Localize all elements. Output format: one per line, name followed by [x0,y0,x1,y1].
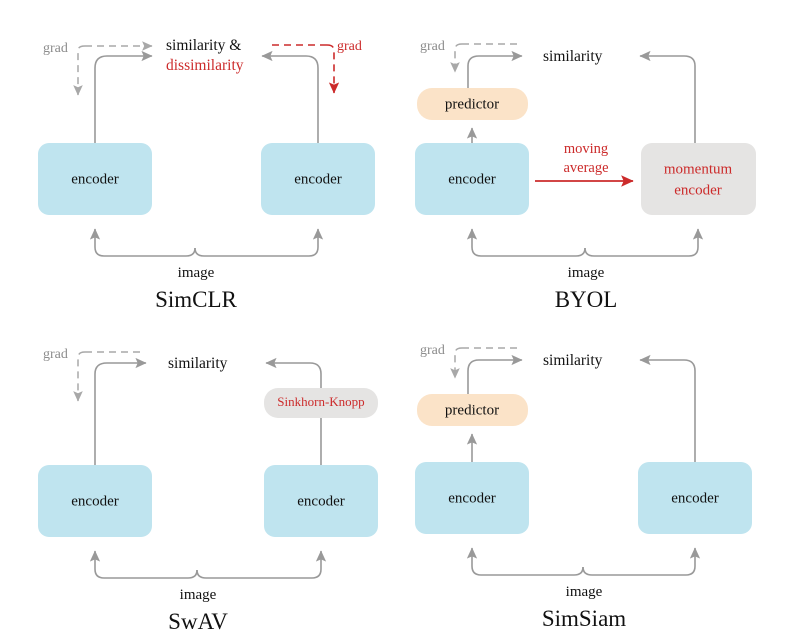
input-label: image [180,587,217,603]
objective-line2: dissimilarity [166,57,244,74]
input-arrow-right [585,229,698,256]
encoder-label-right: encoder [297,493,344,509]
grad-dashed-down-left [455,348,462,378]
forward-arrow-right [640,56,695,143]
grad-label-left: grad [43,347,68,362]
momentum-encoder-box: momentum encoder [641,143,756,215]
objective-label: similarity [543,352,603,369]
momentum-encoder-label-line2: encoder [674,182,721,198]
grad-label-right: grad [337,39,362,54]
encoder-label-left: encoder [448,171,495,187]
input-arrow-left [95,551,197,578]
momentum-encoder-label-line1: momentum [664,161,733,177]
grad-label-left: grad [43,41,68,56]
encoder-label-right: encoder [294,171,341,187]
panel-title-simclr: SimCLR [155,287,237,312]
encoder-label-left: encoder [71,171,118,187]
encoder-box-right: encoder [638,462,752,534]
input-label: image [178,265,215,281]
input-arrow-right [197,551,321,578]
grad-label-left: grad [420,343,445,358]
input-label: image [566,584,603,600]
panel-title-swav: SwAV [168,609,228,634]
encoder-box-left: encoder [38,143,152,215]
objective-line1: similarity & [166,37,241,54]
predictor-box: predictor [417,88,528,120]
sinkhorn-knopp-box: Sinkhorn-Knopp [264,388,378,418]
panel-simclr: grad similarity & dissimilarity grad enc… [0,0,395,316]
encoder-box-left: encoder [415,143,529,215]
predictor-label: predictor [445,402,499,418]
forward-arrow-right [640,360,695,462]
grad-dashed-down-right [327,45,334,93]
encoder-label-left: encoder [448,490,495,506]
forward-arrow-left [95,56,152,143]
objective-label: similarity [168,355,228,372]
panel-title-simsiam: SimSiam [542,606,626,631]
architecture-comparison-figure: grad similarity & dissimilarity grad enc… [0,0,790,636]
grad-dashed-down-left [78,352,85,401]
encoder-label-left: encoder [71,493,118,509]
panel-byol: grad similarity predictor encoder moving… [395,0,790,316]
input-label: image [568,265,605,281]
predictor-label: predictor [445,96,499,112]
input-arrow-right [583,548,695,575]
forward-arrow-right [262,56,318,143]
input-arrow-right [195,229,318,256]
moving-average-label-line1: moving [564,141,608,157]
encoder-label-right: encoder [671,490,718,506]
sinkhorn-knopp-label: Sinkhorn-Knopp [277,394,364,409]
panel-swav: grad similarity Sinkhorn-Knopp encoder e… [0,316,395,636]
objective-label: similarity [543,48,603,65]
grad-dashed-down-left [78,46,85,95]
moving-average-label-line2: average [563,160,608,176]
panel-simsiam: grad similarity predictor encoder encode… [395,316,790,636]
encoder-box-left: encoder [38,465,152,537]
input-arrow-left [95,229,195,256]
encoder-box-left: encoder [415,462,529,534]
predictor-box: predictor [417,394,528,426]
encoder-box-right: encoder [261,143,375,215]
grad-label-left: grad [420,39,445,54]
forward-arrow-left [95,363,146,465]
input-arrow-left [472,548,583,575]
encoder-box-right: encoder [264,465,378,537]
input-arrow-left [472,229,585,256]
grad-dashed-down-left [455,44,462,72]
panel-title-byol: BYOL [555,287,618,312]
